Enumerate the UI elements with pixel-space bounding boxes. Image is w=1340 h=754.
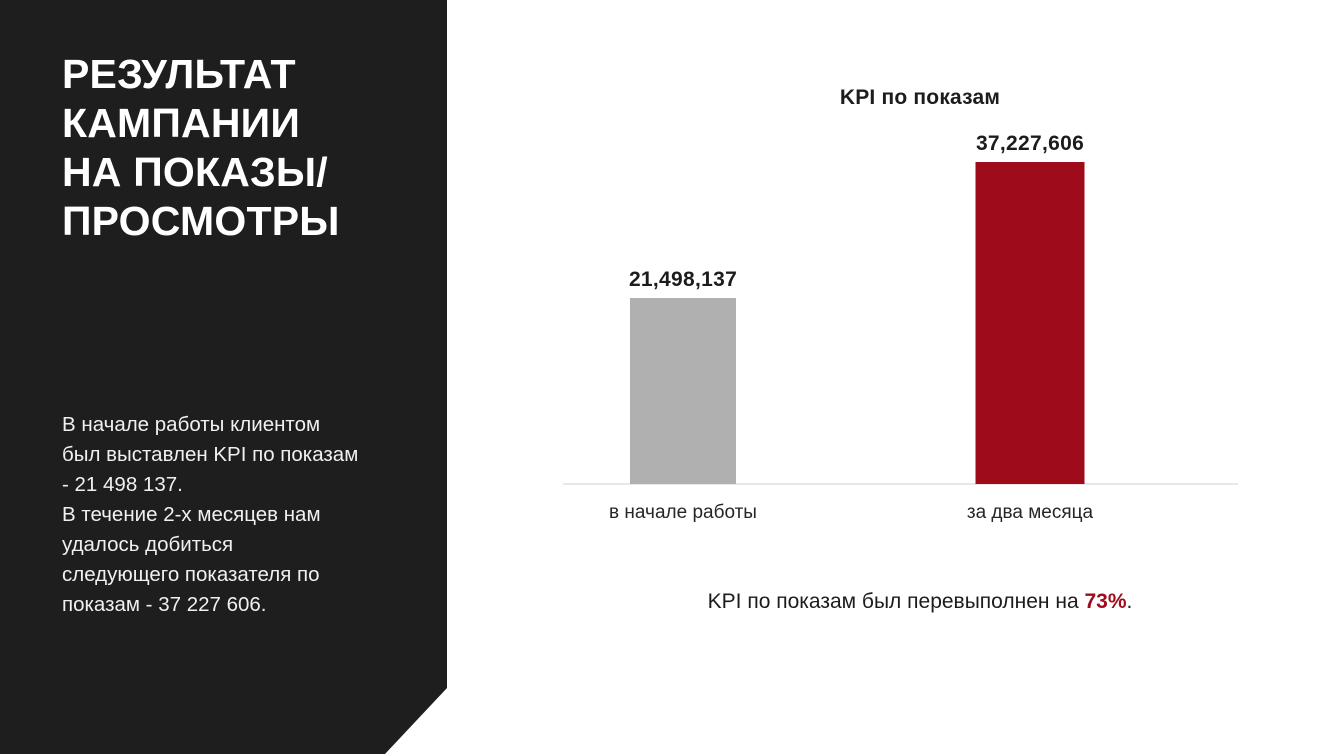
caption-accent-value: 73%: [1084, 590, 1126, 613]
bar-rect: [630, 298, 736, 484]
bar-column: 37,227,606 за два месяца: [870, 0, 1190, 754]
panel-description-line: показам - 37 227 606.: [62, 590, 422, 620]
bar-category-label: за два месяца: [967, 502, 1093, 524]
slide: РЕЗУЛЬТАТ КАМПАНИИ НА ПОКАЗЫ/ ПРОСМОТРЫ …: [0, 0, 1340, 754]
page-title: РЕЗУЛЬТАТ КАМПАНИИ НА ПОКАЗЫ/ ПРОСМОТРЫ: [62, 50, 422, 246]
bar-value-label: 21,498,137: [629, 268, 737, 292]
caption-prefix: KPI по показам был перевыполнен на: [708, 590, 1085, 613]
bar-column: 21,498,137 в начале работы: [523, 0, 843, 754]
panel-description: В начале работы клиентом был выставлен K…: [62, 410, 422, 620]
chart-area: KPI по показам 21,498,137 в начале работ…: [460, 0, 1340, 754]
bar-rect: [976, 162, 1085, 484]
page-title-line: РЕЗУЛЬТАТ: [62, 50, 422, 99]
bar-value-label: 37,227,606: [976, 132, 1084, 156]
panel-description-line: удалось добиться: [62, 530, 422, 560]
panel-description-line: следующего показателя по: [62, 560, 422, 590]
panel-description-line: - 21 498 137.: [62, 470, 422, 500]
panel-description-line: В течение 2-х месяцев нам: [62, 500, 422, 530]
panel-description-line: был выставлен KPI по показам: [62, 440, 422, 470]
page-title-line: ПРОСМОТРЫ: [62, 197, 422, 246]
chart-caption: KPI по показам был перевыполнен на 73%.: [460, 590, 1340, 614]
caption-suffix: .: [1127, 590, 1133, 613]
panel-description-line: В начале работы клиентом: [62, 410, 422, 440]
page-title-line: КАМПАНИИ: [62, 99, 422, 148]
bar-category-label: в начале работы: [609, 502, 757, 524]
page-title-line: НА ПОКАЗЫ/: [62, 148, 422, 197]
bar-chart-plot: 21,498,137 в начале работы 37,227,606 за…: [460, 0, 1340, 754]
